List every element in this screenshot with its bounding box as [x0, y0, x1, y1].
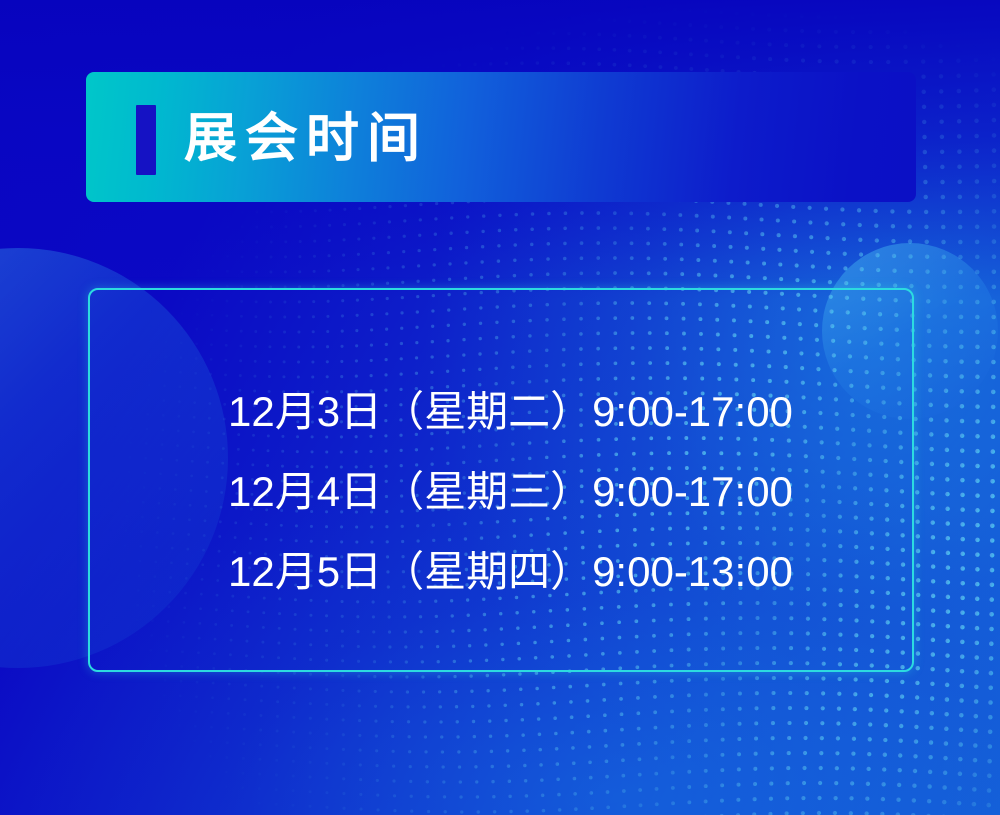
schedule-list: 12月3日（星期二）9:00-17:00 12月4日（星期三）9:00-17:0…: [228, 372, 848, 612]
page-title: 展会时间: [184, 102, 428, 176]
schedule-line: 12月3日（星期二）9:00-17:00: [228, 372, 848, 452]
schedule-line: 12月5日（星期四）9:00-13:00: [228, 532, 848, 612]
section-header-banner: 展会时间: [86, 72, 916, 202]
vertical-accent-bar-icon: [136, 105, 156, 175]
exhibition-time-poster: 展会时间 12月3日（星期二）9:00-17:00 12月4日（星期三）9:00…: [0, 0, 1000, 815]
schedule-line: 12月4日（星期三）9:00-17:00: [228, 452, 848, 532]
